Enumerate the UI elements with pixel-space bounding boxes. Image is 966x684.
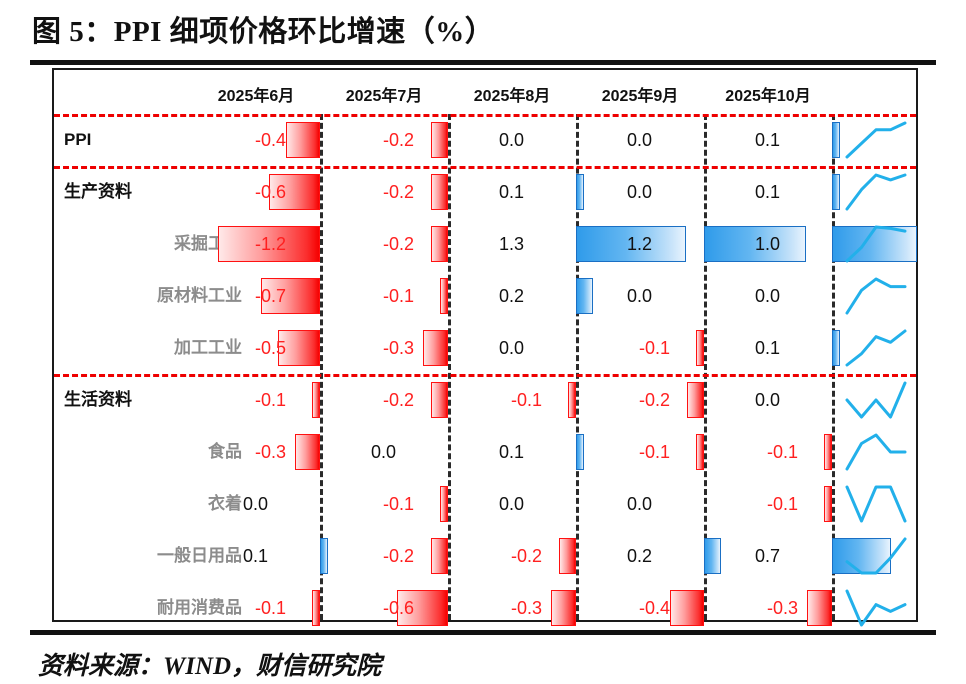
cell-value-r2-c1: -0.6	[255, 166, 286, 218]
data-bar-r3-c2	[431, 226, 448, 262]
cell-value-r1-c4: 0.0	[627, 114, 652, 166]
row-label-2: 生产资料	[64, 166, 132, 218]
data-bar-r9-c4	[704, 538, 721, 574]
cell-r5-c3: 0.0	[448, 322, 576, 374]
column-header-1: 2025年6月	[192, 82, 320, 106]
cell-r9-c5: 0.7	[704, 530, 832, 582]
page-title: 图 5：PPI 细项价格环比增速（%）	[32, 8, 494, 50]
data-bar-r9-c1	[320, 538, 328, 574]
cell-r4-c1: -0.7	[192, 270, 320, 322]
cell-r1-c1: -0.4	[192, 114, 320, 166]
cell-r10-c4: -0.4	[576, 582, 704, 634]
cell-value-r7-c4: -0.1	[639, 426, 670, 478]
cell-r6-c1: -0.1	[192, 374, 320, 426]
data-bar-r7-c4	[696, 434, 704, 470]
data-bar-r7-c3	[576, 434, 584, 470]
cell-r1-c5: 0.1	[704, 114, 832, 166]
cell-r6-c2: -0.2	[320, 374, 448, 426]
column-baseline-2	[448, 114, 451, 620]
cell-r5-c2: -0.3	[320, 322, 448, 374]
cell-r10-c5: -0.3	[704, 582, 832, 634]
sparkline-r1	[842, 118, 910, 162]
cell-value-r1-c5: 0.1	[755, 114, 780, 166]
table-row: 衣着0.0-0.10.00.0-0.1	[54, 478, 916, 530]
column-header-3: 2025年8月	[448, 82, 576, 106]
sparkline-r4	[842, 274, 910, 318]
cell-value-r5-c2: -0.3	[383, 322, 414, 374]
cell-r6-c3: -0.1	[448, 374, 576, 426]
title-divider	[30, 60, 936, 65]
data-bar-r10-c1	[312, 590, 320, 626]
cell-value-r5-c4: -0.1	[639, 322, 670, 374]
cell-r6-c4: -0.2	[576, 374, 704, 426]
cell-r1-c4: 0.0	[576, 114, 704, 166]
cell-value-r4-c3: 0.2	[499, 270, 524, 322]
sparkline-r7	[842, 430, 910, 474]
table-row: 采掘工业-1.2-0.21.31.21.0	[54, 218, 916, 270]
data-bar-r4-c2	[440, 278, 448, 314]
data-bar-r10-c4	[670, 590, 704, 626]
cell-r4-c4: 0.0	[576, 270, 704, 322]
cell-r3-c2: -0.2	[320, 218, 448, 270]
sparkline-r3	[842, 222, 910, 266]
cell-r9-c3: -0.2	[448, 530, 576, 582]
table-row: 加工工业-0.5-0.30.0-0.10.1	[54, 322, 916, 374]
sparkline-r8	[842, 482, 910, 526]
cell-r5-c4: -0.1	[576, 322, 704, 374]
cell-value-r6-c4: -0.2	[639, 374, 670, 426]
cell-value-r7-c2: 0.0	[371, 426, 396, 478]
sparkline-r10	[842, 586, 910, 630]
cell-value-r8-c4: 0.0	[627, 478, 652, 530]
table-row: 生活资料-0.1-0.2-0.1-0.20.0	[54, 374, 916, 426]
data-bar-r6-c1	[312, 382, 320, 418]
cell-r2-c1: -0.6	[192, 166, 320, 218]
data-bar-r1-c1	[286, 122, 320, 158]
source-note: 资料来源：WIND，财信研究院	[38, 646, 381, 682]
cell-r9-c1: 0.1	[192, 530, 320, 582]
cell-r5-c1: -0.5	[192, 322, 320, 374]
cell-r6-c5: 0.0	[704, 374, 832, 426]
cell-r2-c4: 0.0	[576, 166, 704, 218]
cell-value-r8-c5: -0.1	[767, 478, 798, 530]
cell-value-r10-c5: -0.3	[767, 582, 798, 634]
data-bar-r8-c2	[440, 486, 448, 522]
data-bar-r2-c2	[431, 174, 448, 210]
cell-value-r4-c1: -0.7	[255, 270, 286, 322]
data-bar-r6-c2	[431, 382, 448, 418]
cell-r5-c5: 0.1	[704, 322, 832, 374]
column-header-5: 2025年10月	[704, 82, 832, 106]
table-row: PPI-0.4-0.20.00.00.1	[54, 114, 916, 166]
column-header-2: 2025年7月	[320, 82, 448, 106]
table-row: 食品-0.30.00.1-0.1-0.1	[54, 426, 916, 478]
cell-value-r7-c1: -0.3	[255, 426, 286, 478]
cell-value-r2-c5: 0.1	[755, 166, 780, 218]
cell-value-r8-c2: -0.1	[383, 478, 414, 530]
cell-value-r2-c4: 0.0	[627, 166, 652, 218]
cell-r8-c2: -0.1	[320, 478, 448, 530]
group-separator-2	[54, 166, 916, 169]
cell-value-r2-c2: -0.2	[383, 166, 414, 218]
cell-value-r4-c5: 0.0	[755, 270, 780, 322]
cell-value-r9-c4: 0.2	[627, 530, 652, 582]
cell-value-r3-c1: -1.2	[255, 218, 286, 270]
cell-r2-c5: 0.1	[704, 166, 832, 218]
group-separator-3	[54, 374, 916, 377]
data-bar-r4-c3	[576, 278, 593, 314]
cell-r2-c3: 0.1	[448, 166, 576, 218]
cell-value-r3-c3: 1.3	[499, 218, 524, 270]
data-bar-r9-c2	[431, 538, 448, 574]
table-row: 生产资料-0.6-0.20.10.00.1	[54, 166, 916, 218]
cell-value-r3-c5: 1.0	[755, 218, 780, 270]
cell-r7-c4: -0.1	[576, 426, 704, 478]
cell-value-r4-c2: -0.1	[383, 270, 414, 322]
cell-value-r10-c2: -0.6	[383, 582, 414, 634]
cell-value-r7-c5: -0.1	[767, 426, 798, 478]
cell-r4-c5: 0.0	[704, 270, 832, 322]
cell-r3-c3: 1.3	[448, 218, 576, 270]
data-bar-r1-c5	[832, 122, 840, 158]
data-bar-r7-c5	[824, 434, 832, 470]
cell-value-r9-c2: -0.2	[383, 530, 414, 582]
cell-r8-c4: 0.0	[576, 478, 704, 530]
footer-divider	[30, 630, 936, 635]
cell-value-r6-c5: 0.0	[755, 374, 780, 426]
table-header-row: 2025年6月2025年7月2025年8月2025年9月2025年10月	[54, 70, 916, 114]
cell-r7-c5: -0.1	[704, 426, 832, 478]
data-bar-r6-c3	[568, 382, 576, 418]
data-bar-r5-c2	[423, 330, 448, 366]
cell-value-r1-c1: -0.4	[255, 114, 286, 166]
cell-value-r8-c3: 0.0	[499, 478, 524, 530]
cell-r7-c3: 0.1	[448, 426, 576, 478]
row-label-1: PPI	[64, 114, 91, 166]
cell-value-r8-c1: 0.0	[243, 478, 268, 530]
cell-value-r1-c3: 0.0	[499, 114, 524, 166]
sparkline-r2	[842, 170, 910, 214]
cell-r8-c5: -0.1	[704, 478, 832, 530]
cell-r8-c3: 0.0	[448, 478, 576, 530]
cell-value-r1-c2: -0.2	[383, 114, 414, 166]
cell-r1-c2: -0.2	[320, 114, 448, 166]
cell-value-r6-c3: -0.1	[511, 374, 542, 426]
cell-r2-c2: -0.2	[320, 166, 448, 218]
sparkline-r5	[842, 326, 910, 370]
cell-r8-c1: 0.0	[192, 478, 320, 530]
cell-r7-c1: -0.3	[192, 426, 320, 478]
cell-r7-c2: 0.0	[320, 426, 448, 478]
table-row: 原材料工业-0.7-0.10.20.00.0	[54, 270, 916, 322]
group-separator-1	[54, 114, 916, 117]
data-bar-r2-c5	[832, 174, 840, 210]
cell-r3-c1: -1.2	[192, 218, 320, 270]
data-bar-r7-c1	[295, 434, 320, 470]
cell-value-r9-c3: -0.2	[511, 530, 542, 582]
cell-value-r10-c3: -0.3	[511, 582, 542, 634]
cell-value-r6-c2: -0.2	[383, 374, 414, 426]
table-row: 一般日用品0.1-0.2-0.20.20.7	[54, 530, 916, 582]
cell-value-r5-c1: -0.5	[255, 322, 286, 374]
ppi-table: 2025年6月2025年7月2025年8月2025年9月2025年10月 PPI…	[52, 68, 918, 622]
cell-value-r9-c1: 0.1	[243, 530, 268, 582]
data-bar-r9-c3	[559, 538, 576, 574]
data-bar-r10-c3	[551, 590, 576, 626]
cell-value-r2-c3: 0.1	[499, 166, 524, 218]
sparkline-r9	[842, 534, 910, 578]
cell-r10-c1: -0.1	[192, 582, 320, 634]
cell-value-r5-c3: 0.0	[499, 322, 524, 374]
cell-value-r7-c3: 0.1	[499, 426, 524, 478]
cell-r1-c3: 0.0	[448, 114, 576, 166]
cell-value-r10-c1: -0.1	[255, 582, 286, 634]
data-bar-r10-c5	[807, 590, 832, 626]
cell-value-r10-c4: -0.4	[639, 582, 670, 634]
cell-value-r9-c5: 0.7	[755, 530, 780, 582]
cell-value-r4-c4: 0.0	[627, 270, 652, 322]
cell-r9-c2: -0.2	[320, 530, 448, 582]
data-bar-r5-c4	[696, 330, 704, 366]
cell-value-r6-c1: -0.1	[255, 374, 286, 426]
cell-r10-c3: -0.3	[448, 582, 576, 634]
data-bar-r2-c3	[576, 174, 584, 210]
data-bar-r6-c4	[687, 382, 704, 418]
cell-value-r3-c4: 1.2	[627, 218, 652, 270]
data-bar-r1-c2	[431, 122, 448, 158]
table-row: 耐用消费品-0.1-0.6-0.3-0.4-0.3	[54, 582, 916, 634]
row-label-6: 生活资料	[64, 374, 132, 426]
data-bar-r5-c5	[832, 330, 840, 366]
data-bar-r8-c5	[824, 486, 832, 522]
cell-r4-c2: -0.1	[320, 270, 448, 322]
column-header-4: 2025年9月	[576, 82, 704, 106]
cell-r10-c2: -0.6	[320, 582, 448, 634]
cell-value-r5-c5: 0.1	[755, 322, 780, 374]
cell-r4-c3: 0.2	[448, 270, 576, 322]
cell-r9-c4: 0.2	[576, 530, 704, 582]
sparkline-r6	[842, 378, 910, 422]
cell-value-r3-c2: -0.2	[383, 218, 414, 270]
